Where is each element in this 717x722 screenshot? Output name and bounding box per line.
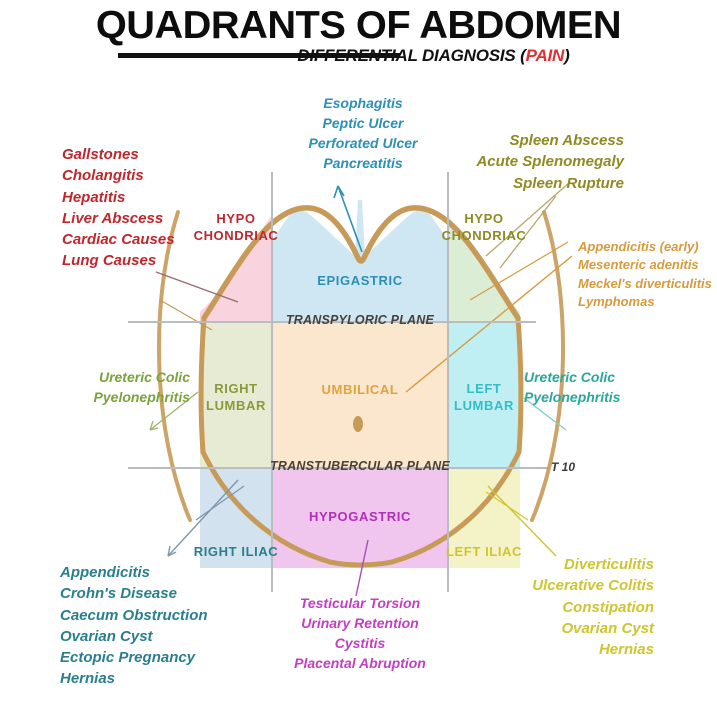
list-item: Gallstones xyxy=(62,144,175,165)
label-hypogastric: HYPOGASTRIC xyxy=(272,508,448,525)
list-item: Pancreatitis xyxy=(278,154,448,174)
list-item: Cholangitis xyxy=(62,165,175,186)
list-item: Ulcerative Colitis xyxy=(470,575,654,596)
list-item: Appendicitis (early) xyxy=(578,238,712,256)
subtitle-suffix: ) xyxy=(564,46,569,65)
label-right-iliac: RIGHT ILIAC xyxy=(172,543,300,560)
list-item: Urinary Retention xyxy=(262,614,458,634)
list-item: Spleen Rupture xyxy=(450,173,624,194)
list-item: Liver Abscess xyxy=(62,208,175,229)
list-item: Testicular Torsion xyxy=(262,594,458,614)
list-item: Hernias xyxy=(60,668,208,689)
label-vertebra-t10: T 10 xyxy=(551,460,575,474)
list-left-lumbar: Ureteric Colic Pyelonephritis xyxy=(524,368,620,408)
list-item: Placental Abruption xyxy=(262,654,458,674)
list-umbilical: Appendicitis (early) Mesenteric adenitis… xyxy=(578,238,712,312)
label-umbilical: UMBILICAL xyxy=(272,381,448,398)
list-item: Lymphomas xyxy=(578,293,712,311)
list-right-iliac: Appendicitis Crohn's Disease Caecum Obst… xyxy=(60,562,208,690)
list-epigastric: Esophagitis Peptic Ulcer Perforated Ulce… xyxy=(278,94,448,174)
label-left-hypochondriac: HYPOCHONDRIAC xyxy=(418,210,550,244)
list-item: Ureteric Colic xyxy=(524,368,620,388)
list-item: Perforated Ulcer xyxy=(278,134,448,154)
list-item: Pyelonephritis xyxy=(524,388,620,408)
list-left-iliac: Diverticulitis Ulcerative Colitis Consti… xyxy=(470,554,654,660)
list-item: Caecum Obstruction xyxy=(60,605,208,626)
list-item: Spleen Abscess xyxy=(450,130,624,151)
list-item: Peptic Ulcer xyxy=(278,114,448,134)
list-item: Ovarian Cyst xyxy=(470,618,654,639)
list-item: Hernias xyxy=(470,639,654,660)
list-item: Mesenteric adenitis xyxy=(578,256,712,274)
list-item: Hepatitis xyxy=(62,187,175,208)
subtitle-highlight: PAIN xyxy=(526,46,565,65)
title-block: QUADRANTS OF ABDOMEN DIFFERENTIAL DIAGNO… xyxy=(0,6,717,46)
label-epigastric: EPIGASTRIC xyxy=(272,272,448,289)
label-right-lumbar: RIGHTLUMBAR xyxy=(200,380,272,414)
list-item: Meckel's diverticulitis xyxy=(578,275,712,293)
page-subtitle: DIFFERENTIAL DIAGNOSIS (PAIN) xyxy=(0,46,717,66)
list-item: Acute Splenomegaly xyxy=(450,151,624,172)
list-item: Lung Causes xyxy=(62,250,175,271)
label-transpyloric-plane: TRANSPYLORIC PLANE xyxy=(262,313,458,327)
list-item: Ovarian Cyst xyxy=(60,626,208,647)
label-transtubercular-plane: TRANSTUBERCULAR PLANE xyxy=(252,459,468,473)
list-item: Esophagitis xyxy=(278,94,448,114)
list-item: Crohn's Disease xyxy=(60,583,208,604)
list-item: Pyelonephritis xyxy=(44,388,190,408)
label-right-hypochondriac: HYPOCHONDRIAC xyxy=(170,210,302,244)
list-right-lumbar: Ureteric Colic Pyelonephritis xyxy=(44,368,190,408)
list-right-hypochondriac: Gallstones Cholangitis Hepatitis Liver A… xyxy=(62,144,175,272)
list-item: Constipation xyxy=(470,597,654,618)
list-left-hypochondriac: Spleen Abscess Acute Splenomegaly Spleen… xyxy=(450,130,624,194)
subtitle-prefix: DIFFERENTIAL DIAGNOSIS ( xyxy=(297,46,525,65)
list-hypogastric: Testicular Torsion Urinary Retention Cys… xyxy=(262,594,458,674)
diagram-canvas: QUADRANTS OF ABDOMEN DIFFERENTIAL DIAGNO… xyxy=(0,0,717,722)
list-item: Cardiac Causes xyxy=(62,229,175,250)
list-item: Ureteric Colic xyxy=(44,368,190,388)
list-item: Cystitis xyxy=(262,634,458,654)
list-item: Appendicitis xyxy=(60,562,208,583)
page-title: QUADRANTS OF ABDOMEN xyxy=(0,6,717,46)
label-left-lumbar: LEFTLUMBAR xyxy=(448,380,520,414)
list-item: Diverticulitis xyxy=(470,554,654,575)
list-item: Ectopic Pregnancy xyxy=(60,647,208,668)
